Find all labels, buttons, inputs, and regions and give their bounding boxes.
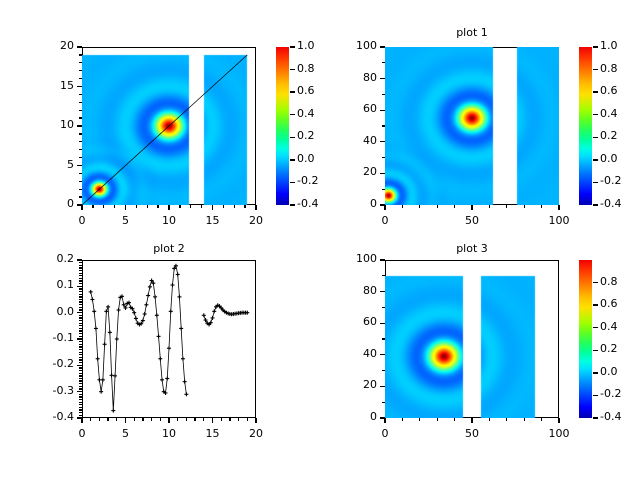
colorbar-tick-label: 0.8 (297, 62, 315, 75)
y-minor-tick (79, 346, 82, 347)
y-minor-tick (79, 54, 82, 55)
x-minor-tick (541, 205, 542, 208)
y-minor-tick (79, 270, 82, 271)
y-minor-tick (79, 378, 82, 379)
y-minor-tick (79, 391, 82, 392)
x-minor-tick (244, 205, 245, 208)
x-minor-tick (402, 205, 403, 208)
colorbar-tick (290, 91, 295, 92)
colorbar-tick-label: 0.4 (297, 107, 315, 120)
colorbar-tick (593, 182, 598, 183)
x-tick-label: 10 (149, 214, 189, 227)
y-minor-tick (79, 286, 82, 287)
y-minor-tick (79, 328, 82, 329)
x-minor-tick (454, 205, 455, 208)
y-minor-tick (79, 196, 82, 197)
colorbar-tick-label: -0.2 (600, 174, 621, 187)
y-minor-tick (79, 296, 82, 297)
colorbar-tick (593, 417, 598, 418)
x-minor-tick (506, 418, 507, 421)
colorbar-tick-label: 0.2 (600, 342, 618, 355)
y-tick-label: 15 (30, 79, 74, 92)
y-tick-label: 100 (333, 39, 377, 52)
y-tick-label: -0.4 (30, 410, 74, 423)
y-tick-label: 20 (333, 378, 377, 391)
y-minor-tick (79, 102, 82, 103)
x-minor-tick (157, 205, 158, 208)
y-minor-tick (382, 110, 385, 111)
x-minor-tick (134, 418, 135, 421)
colorbar-tick (290, 46, 295, 47)
y-minor-tick (79, 402, 82, 403)
y-minor-tick (382, 125, 385, 126)
y-tick-label: 0.2 (30, 252, 74, 265)
y-minor-tick (79, 301, 82, 302)
y-minor-tick (79, 394, 82, 395)
y-minor-tick (79, 365, 82, 366)
x-tick-label: 0 (365, 427, 405, 440)
colorbar (579, 47, 592, 205)
y-minor-tick (79, 275, 82, 276)
colorbar-tick-label: 1.0 (297, 39, 315, 52)
y-minor-tick (79, 157, 82, 158)
x-tick-label: 20 (236, 427, 276, 440)
colorbar-tick-label: 0.6 (297, 84, 315, 97)
colorbar-tick (593, 91, 598, 92)
colorbar-tick-label: 0.0 (600, 365, 618, 378)
x-minor-tick (125, 205, 126, 208)
x-minor-tick (136, 205, 137, 208)
colorbar-tick-label: 0.0 (600, 152, 618, 165)
y-minor-tick (382, 354, 385, 355)
x-minor-tick (223, 205, 224, 208)
y-minor-tick (79, 344, 82, 345)
colorbar-tick (593, 137, 598, 138)
y-minor-tick (79, 125, 82, 126)
x-minor-tick (81, 205, 82, 208)
x-minor-tick (419, 418, 420, 421)
y-minor-tick (79, 299, 82, 300)
x-minor-tick (99, 418, 100, 421)
x-minor-tick (489, 418, 490, 421)
y-tick-label: 80 (333, 284, 377, 297)
panel-top-right: plot 1 0204060801000501001.00.80.60.40.2… (320, 0, 640, 240)
x-tick-label: 0 (365, 214, 405, 227)
y-minor-tick (79, 133, 82, 134)
colorbar-tick (290, 114, 295, 115)
y-minor-tick (79, 325, 82, 326)
x-minor-tick (125, 418, 126, 421)
y-minor-tick (79, 78, 82, 79)
colorbar-tick (290, 69, 295, 70)
y-minor-tick (79, 373, 82, 374)
y-minor-tick (79, 375, 82, 376)
colorbar-tick (290, 137, 295, 138)
x-minor-tick (194, 418, 195, 421)
y-tick-label: 40 (333, 134, 377, 147)
colorbar (276, 47, 289, 205)
x-minor-tick (212, 418, 213, 421)
y-minor-tick (79, 341, 82, 342)
figure-canvas: 05101520051015201.00.80.60.40.20.0-0.2-0… (0, 0, 640, 480)
x-minor-tick (524, 418, 525, 421)
y-minor-tick (79, 370, 82, 371)
colorbar-tick (593, 204, 598, 205)
colorbar-tick-label: -0.2 (600, 387, 621, 400)
y-tick-label: -0.1 (30, 331, 74, 344)
x-tick-label: 15 (193, 214, 233, 227)
colorbar-tick-label: -0.4 (297, 197, 318, 210)
y-minor-tick (79, 409, 82, 410)
colorbar-tick-label: 0.2 (600, 129, 618, 142)
y-minor-tick (79, 307, 82, 308)
x-minor-tick (229, 418, 230, 421)
x-tick-label: 0 (62, 427, 102, 440)
y-minor-tick (79, 94, 82, 95)
x-minor-tick (114, 205, 115, 208)
y-minor-tick (79, 367, 82, 368)
x-minor-tick (116, 418, 117, 421)
colorbar-tick-label: -0.4 (600, 410, 621, 423)
x-minor-tick (151, 418, 152, 421)
x-minor-tick (107, 418, 108, 421)
x-minor-tick (221, 418, 222, 421)
y-minor-tick (79, 320, 82, 321)
y-minor-tick (79, 262, 82, 263)
y-tick-label: 80 (333, 71, 377, 84)
x-minor-tick (541, 418, 542, 421)
x-minor-tick (454, 418, 455, 421)
colorbar-tick (593, 327, 598, 328)
y-minor-tick (79, 338, 82, 339)
y-minor-tick (79, 407, 82, 408)
x-minor-tick (160, 418, 161, 421)
x-tick-label: 100 (539, 427, 579, 440)
y-minor-tick (79, 278, 82, 279)
x-tick-label: 10 (149, 427, 189, 440)
colorbar-tick (593, 395, 598, 396)
y-minor-tick (79, 315, 82, 316)
x-minor-tick (147, 205, 148, 208)
y-minor-tick (79, 380, 82, 381)
y-minor-tick (79, 70, 82, 71)
y-minor-tick (79, 354, 82, 355)
y-minor-tick (382, 141, 385, 142)
colorbar (579, 260, 592, 418)
y-minor-tick (382, 46, 385, 47)
x-minor-tick (255, 418, 256, 421)
y-minor-tick (382, 275, 385, 276)
colorbar-tick-label: 0.4 (600, 320, 618, 333)
x-minor-tick (489, 205, 490, 208)
y-minor-tick (79, 399, 82, 400)
y-tick-label: 0 (333, 197, 377, 210)
y-minor-tick (79, 291, 82, 292)
x-minor-tick (103, 205, 104, 208)
x-minor-tick (471, 205, 472, 208)
colorbar-tick (593, 159, 598, 160)
y-minor-tick (79, 62, 82, 63)
y-minor-tick (382, 402, 385, 403)
y-tick-label: 5 (30, 158, 74, 171)
y-tick-label: -0.3 (30, 384, 74, 397)
y-minor-tick (79, 181, 82, 182)
y-minor-tick (382, 62, 385, 63)
panel-top-left: 05101520051015201.00.80.60.40.20.0-0.2-0… (0, 0, 320, 240)
y-minor-tick (79, 333, 82, 334)
y-tick-label: 100 (333, 252, 377, 265)
y-minor-tick (79, 357, 82, 358)
y-minor-tick (79, 149, 82, 150)
y-minor-tick (79, 404, 82, 405)
y-minor-tick (79, 349, 82, 350)
y-tick-label: 40 (333, 347, 377, 360)
y-minor-tick (79, 267, 82, 268)
y-minor-tick (79, 46, 82, 47)
y-minor-tick (382, 78, 385, 79)
x-tick-label: 50 (452, 427, 492, 440)
y-tick-label: 20 (333, 165, 377, 178)
y-tick-label: 0 (30, 197, 74, 210)
y-minor-tick (79, 280, 82, 281)
y-minor-tick (79, 259, 82, 260)
colorbar-tick (593, 304, 598, 305)
y-minor-tick (382, 323, 385, 324)
colorbar-tick-label: 1.0 (600, 39, 618, 52)
colorbar-tick-label: 0.8 (600, 275, 618, 288)
y-tick-label: 20 (30, 39, 74, 52)
x-minor-tick (203, 418, 204, 421)
x-minor-tick (186, 418, 187, 421)
x-minor-tick (419, 205, 420, 208)
y-minor-tick (79, 317, 82, 318)
y-minor-tick (79, 352, 82, 353)
x-minor-tick (402, 418, 403, 421)
heatmap-image (385, 47, 559, 205)
x-minor-tick (247, 418, 248, 421)
y-minor-tick (79, 117, 82, 118)
y-minor-tick (382, 94, 385, 95)
y-minor-tick (382, 370, 385, 371)
x-minor-tick (179, 205, 180, 208)
y-tick-label: 0.1 (30, 278, 74, 291)
y-minor-tick (79, 396, 82, 397)
colorbar-tick-label: -0.2 (297, 174, 318, 187)
x-minor-tick (506, 205, 507, 208)
x-minor-tick (201, 205, 202, 208)
x-minor-tick (92, 205, 93, 208)
y-minor-tick (79, 86, 82, 87)
y-minor-tick (79, 273, 82, 274)
x-tick-label: 5 (106, 427, 146, 440)
colorbar-tick-label: 0.8 (600, 62, 618, 75)
y-minor-tick (79, 330, 82, 331)
x-minor-tick (234, 205, 235, 208)
panel-top-right-title: plot 1 (385, 26, 559, 39)
y-minor-tick (79, 294, 82, 295)
colorbar-tick (290, 159, 295, 160)
y-tick-label: 60 (333, 102, 377, 115)
x-minor-tick (190, 205, 191, 208)
y-minor-tick (79, 309, 82, 310)
y-minor-tick (382, 338, 385, 339)
x-minor-tick (384, 418, 385, 421)
colorbar-tick-label: 0.6 (600, 297, 618, 310)
colorbar-tick (593, 114, 598, 115)
y-minor-tick (79, 110, 82, 111)
y-tick-label: 0.0 (30, 305, 74, 318)
panel-bottom-right: plot 3 0204060801000501000.80.60.40.20.0… (320, 240, 640, 480)
x-tick-label: 100 (539, 214, 579, 227)
y-minor-tick (79, 141, 82, 142)
heatmap-image (385, 260, 559, 418)
x-minor-tick (524, 205, 525, 208)
y-tick-label: -0.2 (30, 357, 74, 370)
x-minor-tick (437, 418, 438, 421)
y-tick-label: 0 (333, 410, 377, 423)
colorbar-tick-label: -0.4 (600, 197, 621, 210)
colorbar-tick-label: 0.0 (297, 152, 315, 165)
y-minor-tick (79, 388, 82, 389)
y-minor-tick (382, 173, 385, 174)
panel-bottom-left: plot 2 0.20.10.0-0.1-0.2-0.3-0.405101520 (0, 240, 320, 480)
y-minor-tick (382, 259, 385, 260)
x-minor-tick (255, 205, 256, 208)
y-minor-tick (79, 173, 82, 174)
colorbar-tick-label: 0.4 (600, 107, 618, 120)
x-minor-tick (437, 205, 438, 208)
panel-bottom-right-title: plot 3 (385, 242, 559, 255)
x-minor-tick (238, 418, 239, 421)
y-minor-tick (79, 265, 82, 266)
y-minor-tick (79, 362, 82, 363)
y-minor-tick (382, 157, 385, 158)
y-minor-tick (79, 323, 82, 324)
y-minor-tick (382, 307, 385, 308)
y-tick-label: 10 (30, 118, 74, 131)
y-minor-tick (79, 288, 82, 289)
colorbar-tick (290, 204, 295, 205)
y-minor-tick (79, 415, 82, 416)
y-minor-tick (79, 189, 82, 190)
y-minor-tick (79, 165, 82, 166)
x-minor-tick (384, 205, 385, 208)
y-minor-tick (79, 283, 82, 284)
x-tick-label: 0 (62, 214, 102, 227)
y-minor-tick (79, 359, 82, 360)
y-minor-tick (382, 386, 385, 387)
y-minor-tick (79, 336, 82, 337)
x-minor-tick (81, 418, 82, 421)
x-tick-label: 15 (193, 427, 233, 440)
x-minor-tick (471, 418, 472, 421)
colorbar-tick (593, 372, 598, 373)
colorbar-tick (593, 69, 598, 70)
y-minor-tick (79, 312, 82, 313)
colorbar-tick (290, 182, 295, 183)
x-minor-tick (177, 418, 178, 421)
colorbar-tick-label: 0.2 (297, 129, 315, 142)
x-minor-tick (142, 418, 143, 421)
x-minor-tick (212, 205, 213, 208)
y-minor-tick (79, 412, 82, 413)
colorbar-tick (593, 282, 598, 283)
x-tick-label: 5 (106, 214, 146, 227)
y-tick-label: 60 (333, 315, 377, 328)
y-minor-tick (79, 386, 82, 387)
colorbar-tick (593, 46, 598, 47)
x-minor-tick (558, 205, 559, 208)
colorbar-tick (593, 350, 598, 351)
y-minor-tick (79, 304, 82, 305)
x-minor-tick (168, 205, 169, 208)
y-minor-tick (79, 383, 82, 384)
x-minor-tick (168, 418, 169, 421)
x-minor-tick (90, 418, 91, 421)
y-minor-tick (382, 291, 385, 292)
y-minor-tick (382, 189, 385, 190)
x-tick-label: 50 (452, 214, 492, 227)
colorbar-tick-label: 0.6 (600, 84, 618, 97)
x-minor-tick (558, 418, 559, 421)
x-tick-label: 20 (236, 214, 276, 227)
